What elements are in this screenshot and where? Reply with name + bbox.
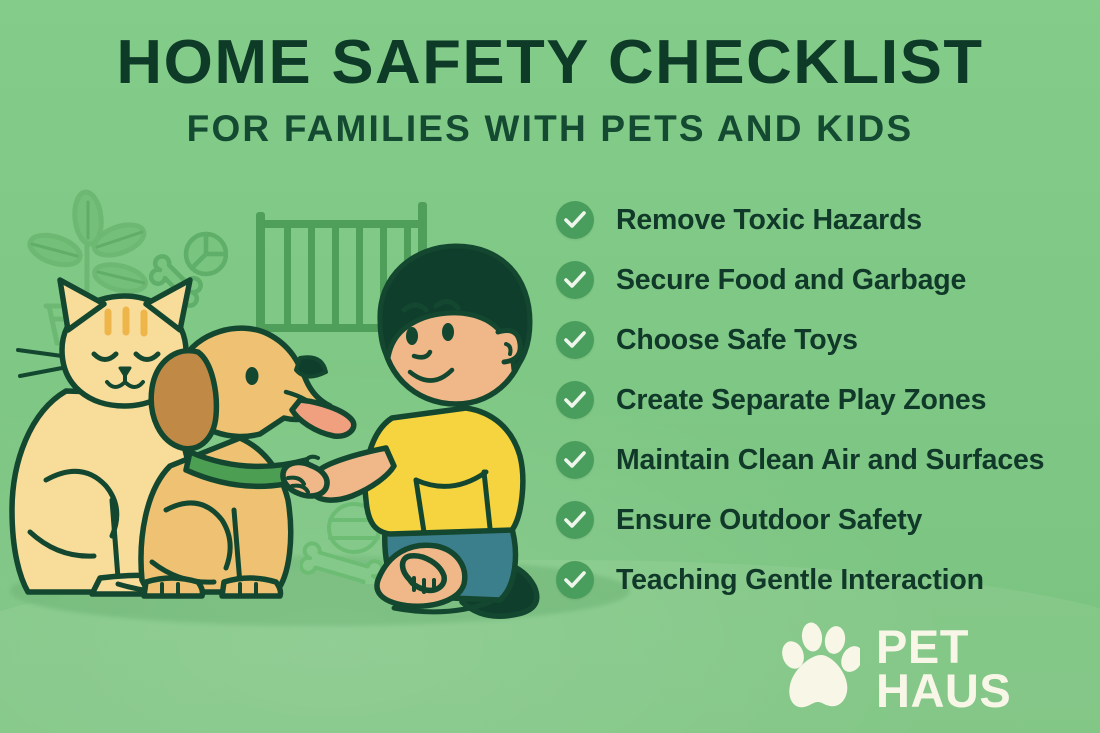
logo-line-1: PET [876, 625, 1011, 668]
brand-logo[interactable]: PET HAUS [782, 622, 1011, 715]
page-subtitle: FOR FAMILIES WITH PETS AND KIDS [0, 108, 1100, 150]
safety-checklist: Remove Toxic Hazards Secure Food and Gar… [556, 190, 1100, 610]
logo-wordmark: PET HAUS [876, 625, 1011, 711]
list-item-label: Teaching Gentle Interaction [616, 564, 984, 597]
poster-canvas: HOME SAFETY CHECKLIST FOR FAMILIES WITH … [0, 0, 1100, 733]
check-icon[interactable] [556, 561, 594, 599]
dog-figure [141, 328, 354, 596]
list-item[interactable]: Secure Food and Garbage [556, 250, 1100, 310]
list-item[interactable]: Ensure Outdoor Safety [556, 490, 1100, 550]
check-icon[interactable] [556, 261, 594, 299]
paw-print-icon [782, 622, 860, 715]
list-item[interactable]: Teaching Gentle Interaction [556, 550, 1100, 610]
list-item-label: Secure Food and Garbage [616, 264, 966, 297]
list-item[interactable]: Remove Toxic Hazards [556, 190, 1100, 250]
pets-and-kid-illustration [0, 180, 600, 650]
poster-heading-group: HOME SAFETY CHECKLIST FOR FAMILIES WITH … [0, 32, 1100, 150]
check-icon[interactable] [556, 441, 594, 479]
list-item-label: Remove Toxic Hazards [616, 204, 922, 237]
check-icon[interactable] [556, 321, 594, 359]
list-item-label: Maintain Clean Air and Surfaces [616, 444, 1044, 477]
check-icon[interactable] [556, 201, 594, 239]
list-item[interactable]: Choose Safe Toys [556, 310, 1100, 370]
logo-line-2: HAUS [876, 669, 1011, 712]
list-item-label: Create Separate Play Zones [616, 384, 986, 417]
list-item-label: Ensure Outdoor Safety [616, 504, 922, 537]
page-title: HOME SAFETY CHECKLIST [0, 32, 1100, 94]
list-item-label: Choose Safe Toys [616, 324, 858, 357]
list-item[interactable]: Create Separate Play Zones [556, 370, 1100, 430]
check-icon[interactable] [556, 381, 594, 419]
check-icon[interactable] [556, 501, 594, 539]
list-item[interactable]: Maintain Clean Air and Surfaces [556, 430, 1100, 490]
